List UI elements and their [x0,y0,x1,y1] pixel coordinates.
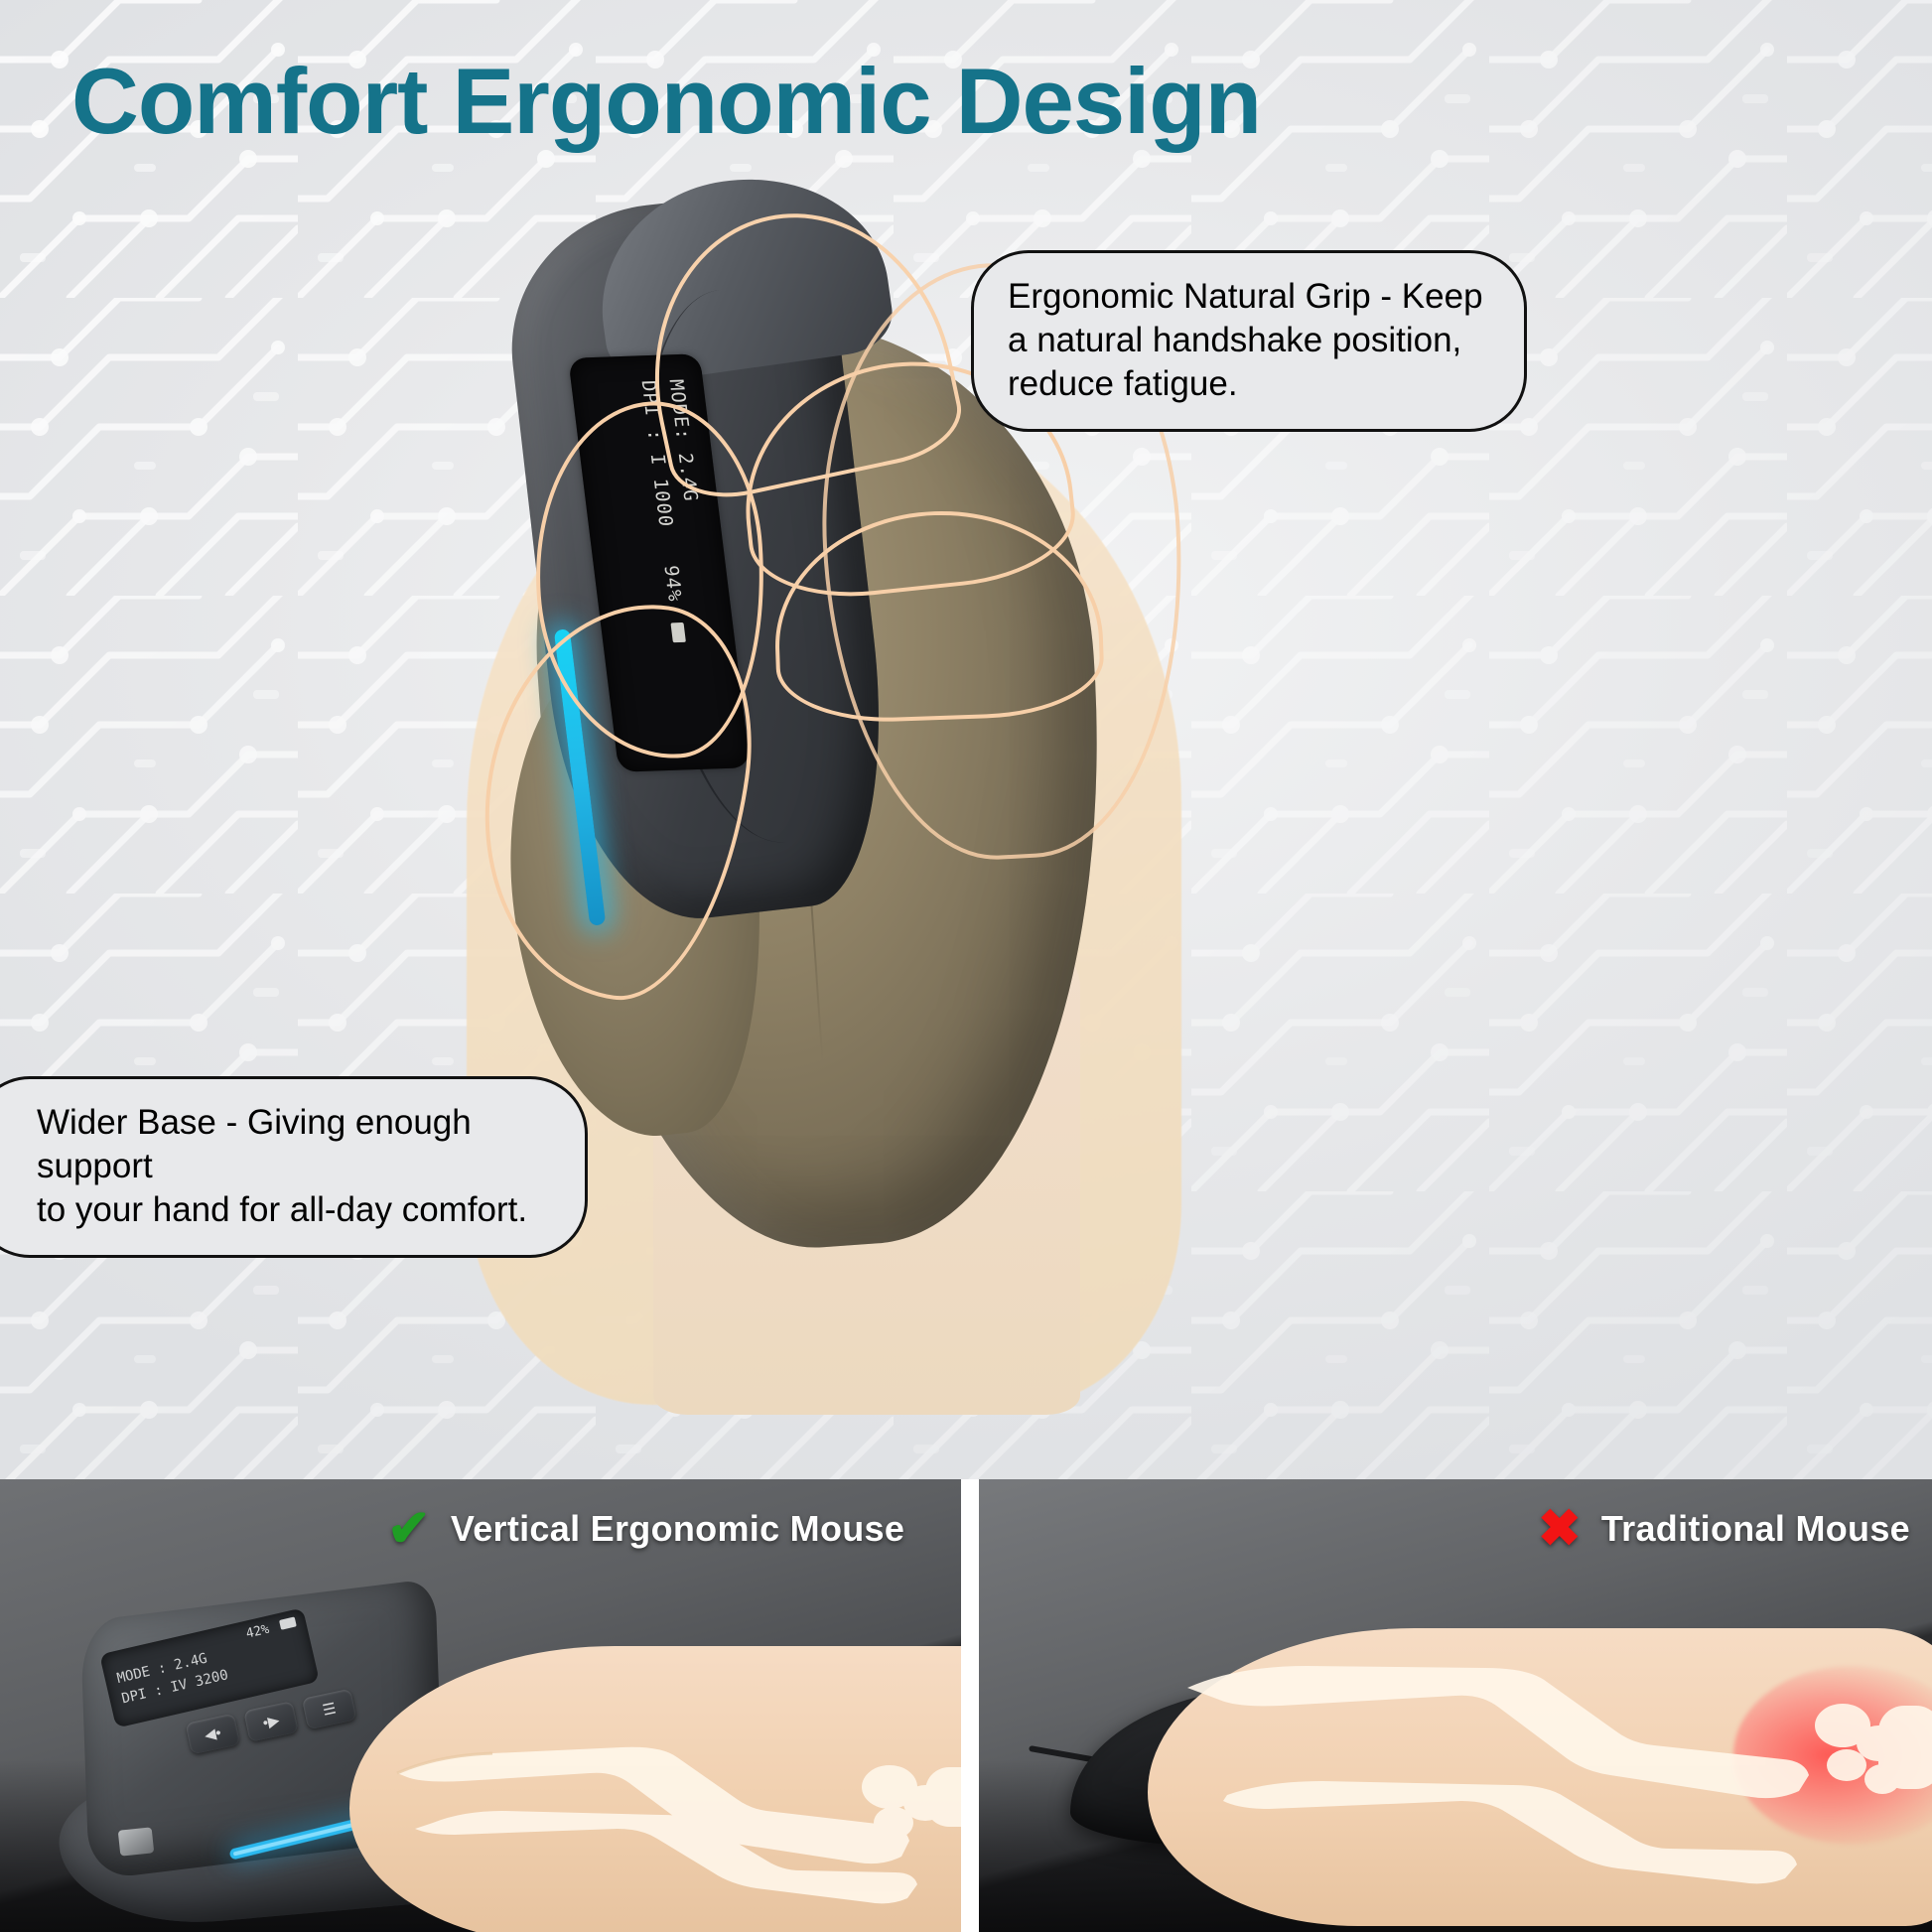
infographic-stage: Comfort Ergonomic Design MODE: 2.4G DPI … [0,0,1932,1932]
dpi-icon: ☰ [321,1699,338,1719]
callout-line: reduce fatigue. [1008,362,1490,406]
battery-icon [279,1616,297,1629]
page-title: Comfort Ergonomic Design [71,48,1261,155]
callout-line: Wider Base - Giving enough support [37,1101,551,1188]
callout-line: a natural handshake position, [1008,319,1490,362]
callout-line: to your hand for all-day comfort. [37,1188,551,1232]
callout-ergonomic-natural-grip: Ergonomic Natural Grip - Keep a natural … [971,250,1527,432]
comparison-panels: 42% MODE : 2.4G DPI : IV 3200 ◀• •▶ [0,1479,1932,1932]
check-icon: ✔ [387,1503,431,1555]
panel-title: Traditional Mouse [1601,1508,1910,1550]
hand-skeleton-overlay-strained [1158,1618,1932,1916]
panel-vertical-ergonomic-mouse: 42% MODE : 2.4G DPI : IV 3200 ◀• •▶ [0,1479,961,1932]
cross-icon: ✖ [1538,1503,1582,1555]
panel-label-traditional: ✖ Traditional Mouse [1538,1503,1910,1555]
hand-skeleton-overlay-healthy [338,1628,961,1932]
panel-title: Vertical Ergonomic Mouse [451,1508,904,1550]
forward-icon: •▶ [261,1711,281,1731]
panel-label-vertical: ✔ Vertical Ergonomic Mouse [387,1503,904,1555]
callout-wider-base: Wider Base - Giving enough support to yo… [0,1076,588,1258]
usb-port [118,1827,155,1856]
back-icon: ◀• [203,1724,222,1744]
callout-line: Ergonomic Natural Grip - Keep [1008,275,1490,319]
battery-percent: 42% [244,1622,270,1642]
hero-section: Comfort Ergonomic Design MODE: 2.4G DPI … [0,0,1932,1479]
panel-traditional-mouse: ✖ Traditional Mouse [979,1479,1932,1932]
